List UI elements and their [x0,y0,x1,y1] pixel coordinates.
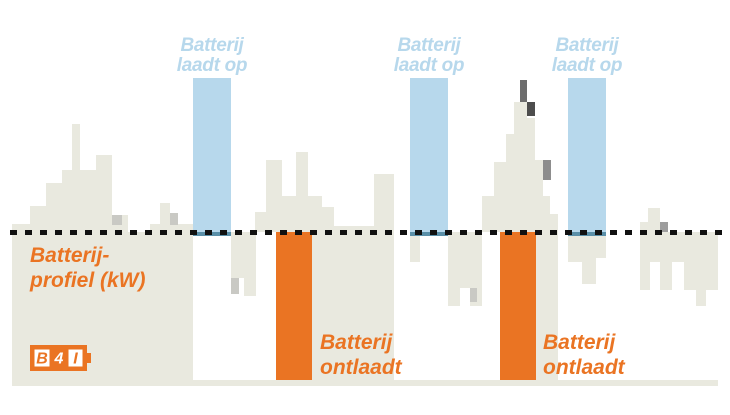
discharge-bar-1[interactable] [276,232,312,380]
b4i-logo[interactable]: B 4 I [30,345,92,371]
shadow-sliver-5 [543,160,551,180]
battery-profile-axis-label-line2: profiel (kW) [30,268,146,293]
infographic-canvas: Batterij laadt op Batterij laadt op Batt… [0,0,730,415]
charge-bar-foot-2 [410,232,448,236]
shadow-sliver-3 [520,80,527,102]
logo-terminal [85,353,91,363]
battery-profile-axis-label: Batterij- profiel (kW) [30,243,146,293]
load-profile-lower-notch-2 [394,232,500,380]
charge-bar-2[interactable] [410,78,448,232]
charge-label-2-line2: laadt op [389,56,469,76]
discharge-label-2-line1: Batterij [543,330,625,355]
charge-label-3-line2: laadt op [547,56,627,76]
charge-bar-foot-3 [568,232,606,236]
charge-label-1: Batterij laadt op [172,36,252,76]
logo-char-1: B [36,351,48,368]
charge-bar-3[interactable] [568,78,606,232]
discharge-bar-2[interactable] [500,232,536,380]
charge-label-1-line2: laadt op [172,56,252,76]
discharge-label-2: Batterij ontlaadt [543,330,625,380]
charge-label-2: Batterij laadt op [389,36,469,76]
logo-char-2: 4 [54,351,64,368]
charge-label-2-line1: Batterij [389,36,469,56]
discharge-label-1-line1: Batterij [320,330,402,355]
shadow-sliver-8 [470,288,477,302]
shadow-sliver-7 [231,278,239,294]
charge-label-3-line1: Batterij [547,36,627,56]
logo-char-3: I [73,351,78,368]
shadow-sliver-4 [527,102,535,116]
charge-bar-1[interactable] [193,78,231,232]
discharge-label-1-line2: ontlaadt [320,355,402,380]
shadow-sliver-2 [170,213,178,225]
discharge-label-1: Batterij ontlaadt [320,330,402,380]
shadow-sliver-1 [112,215,122,225]
charge-label-3: Batterij laadt op [547,36,627,76]
discharge-label-2-line2: ontlaadt [543,355,625,380]
shadow-sliver-6 [660,222,668,232]
battery-profile-axis-label-line1: Batterij- [30,243,146,268]
charge-bar-foot-1 [193,232,231,236]
charge-label-1-line1: Batterij [172,36,252,56]
